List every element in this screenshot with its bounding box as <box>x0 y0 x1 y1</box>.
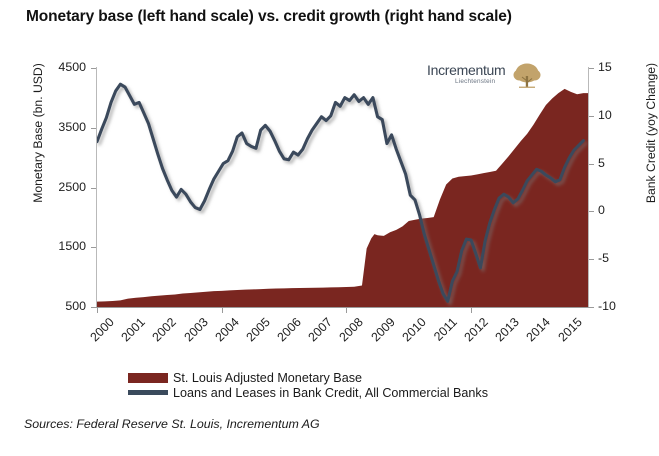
plot-svg <box>97 68 588 307</box>
left-tick-mark-500 <box>91 307 96 308</box>
x-tick-mark-2004 <box>222 308 223 313</box>
x-tick-mark-2012 <box>471 308 472 313</box>
left-tick-3500: 3500 <box>38 120 86 134</box>
x-tick-mark-2008 <box>346 308 347 313</box>
bottom-axis-line <box>96 307 589 308</box>
incrementum-logo: Incrementum Liechtenstein <box>427 61 543 95</box>
left-tick-500: 500 <box>38 299 86 313</box>
logo-wordmark: Incrementum <box>427 62 505 78</box>
left-tick-1500: 1500 <box>38 239 86 253</box>
left-tick-mark-2500 <box>91 188 96 189</box>
right-tick-mark-5 <box>589 164 594 165</box>
right-tick-15: 15 <box>598 60 638 74</box>
left-tick-mark-4500 <box>91 68 96 69</box>
logo-subtitle: Liechtenstein <box>455 78 495 85</box>
chart-legend: St. Louis Adjusted Monetary Base Loans a… <box>128 370 488 400</box>
legend-item-bank-credit: Loans and Leases in Bank Credit, All Com… <box>128 385 488 400</box>
legend-label-monetary-base: St. Louis Adjusted Monetary Base <box>173 371 362 385</box>
left-tick-mark-1500 <box>91 247 96 248</box>
left-tick-4500: 4500 <box>38 60 86 74</box>
right-tick-0: 0 <box>598 203 638 217</box>
chart-title: Monetary base (left hand scale) vs. cred… <box>26 8 512 26</box>
right-tick-mark-10 <box>589 116 594 117</box>
legend-label-bank-credit: Loans and Leases in Bank Credit, All Com… <box>173 386 488 400</box>
right-tick-5: 5 <box>598 156 638 170</box>
right-tick-mark-15 <box>589 68 594 69</box>
legend-item-monetary-base: St. Louis Adjusted Monetary Base <box>128 370 488 385</box>
source-note: Sources: Federal Reserve St. Louis, Incr… <box>24 417 320 431</box>
right-axis-title: Bank Credit (yoy Change) <box>644 33 658 233</box>
legend-swatch-line <box>128 390 168 395</box>
monetary-base-area <box>97 89 588 307</box>
right-tick-10: 10 <box>598 108 638 122</box>
left-tick-mark-3500 <box>91 128 96 129</box>
right-tick-mark--10 <box>589 307 594 308</box>
right-tick--10: -10 <box>598 299 638 313</box>
right-tick-mark-0 <box>589 211 594 212</box>
right-tick--5: -5 <box>598 251 638 265</box>
left-tick-2500: 2500 <box>38 180 86 194</box>
x-tick-mark-2000 <box>97 308 98 313</box>
right-axis-line <box>588 67 589 308</box>
chart-container: Monetary base (left hand scale) vs. cred… <box>0 0 659 456</box>
legend-swatch-area <box>128 373 168 383</box>
plot-area <box>97 68 588 307</box>
tree-icon <box>511 61 543 91</box>
right-tick-mark--5 <box>589 259 594 260</box>
